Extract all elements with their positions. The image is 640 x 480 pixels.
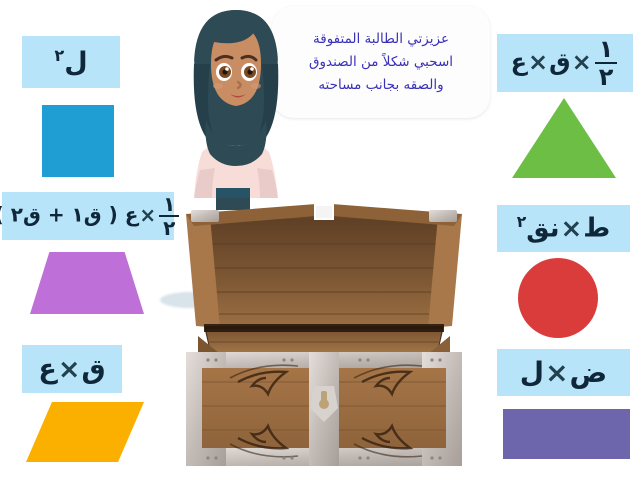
formula-exponent: ٢	[54, 46, 64, 65]
formula-card-trapezoid-area[interactable]: ١٢×ع ( ق١ + ق٢ )	[2, 192, 174, 240]
shape-rectangle[interactable]	[503, 409, 630, 459]
formula-right-term: ل	[520, 356, 544, 389]
formula-text-parallelogram: ق×ع	[38, 356, 105, 383]
formula-term-base: ق	[549, 48, 570, 76]
multiply-icon: ×	[544, 356, 569, 389]
speech-line-3: والصقه بجانب مساحته	[318, 77, 443, 93]
formula-right-term: ع	[38, 354, 56, 385]
chest-lid	[186, 204, 462, 328]
activity-canvas: ل٢ ١٢×ع ( ق١ + ق٢ ) ق×ع ١٢×ق×ع ط×نق٢ ض×ل…	[0, 0, 640, 480]
fraction-one-half: ١٢	[595, 37, 618, 89]
multiply-icon: ×	[138, 203, 157, 227]
formula-base-letter: ل	[64, 47, 87, 78]
multiply-icon: ×	[571, 48, 593, 76]
speech-bubble: عزيزتي الطالبة المتفوقة اسحبي شكلاً من ا…	[272, 6, 490, 118]
formula-card-circle-area[interactable]: ط×نق٢	[497, 205, 630, 252]
fraction-numerator: ١	[595, 37, 618, 64]
formula-left-term: ط	[583, 214, 610, 244]
shape-trapezoid[interactable]	[30, 252, 144, 314]
fraction-denominator: ٢	[599, 64, 614, 89]
formula-left-term: ق	[81, 354, 105, 385]
formula-card-square-area[interactable]: ل٢	[22, 36, 120, 88]
speech-line-2: اسحبي شكلاً من الصندوق	[309, 54, 453, 70]
formula-text-triangle: ١٢×ق×ع	[511, 37, 620, 89]
shape-circle[interactable]	[518, 258, 598, 338]
shape-triangle[interactable]	[512, 98, 616, 178]
formula-text-square: ل٢	[54, 48, 87, 76]
formula-text-circle: ط×نق٢	[517, 215, 611, 242]
formula-exponent: ٢	[517, 213, 527, 231]
multiply-icon: ×	[527, 48, 549, 76]
formula-card-triangle-area[interactable]: ١٢×ق×ع	[497, 34, 633, 92]
shape-square[interactable]	[42, 105, 114, 177]
shape-parallelogram[interactable]	[26, 402, 144, 462]
formula-terms: ع ( ق١ + ق٢ )	[0, 203, 138, 227]
multiply-icon: ×	[57, 354, 82, 385]
speech-line-1: عزيزتي الطالبة المتفوقة	[313, 31, 449, 47]
treasure-chest[interactable]	[164, 186, 484, 478]
multiply-icon: ×	[559, 214, 583, 244]
formula-card-parallelogram-area[interactable]: ق×ع	[22, 345, 122, 393]
character-illustration	[176, 2, 296, 217]
formula-text-trapezoid: ١٢×ع ( ق١ + ق٢ )	[0, 194, 181, 238]
formula-card-rectangle-area[interactable]: ض×ل	[497, 349, 630, 396]
formula-text-rectangle: ض×ل	[520, 359, 607, 387]
formula-left-term: ض	[570, 356, 608, 389]
chest-body	[186, 352, 462, 466]
formula-right-term: نق	[526, 214, 559, 244]
formula-term-height: ع	[511, 48, 527, 76]
